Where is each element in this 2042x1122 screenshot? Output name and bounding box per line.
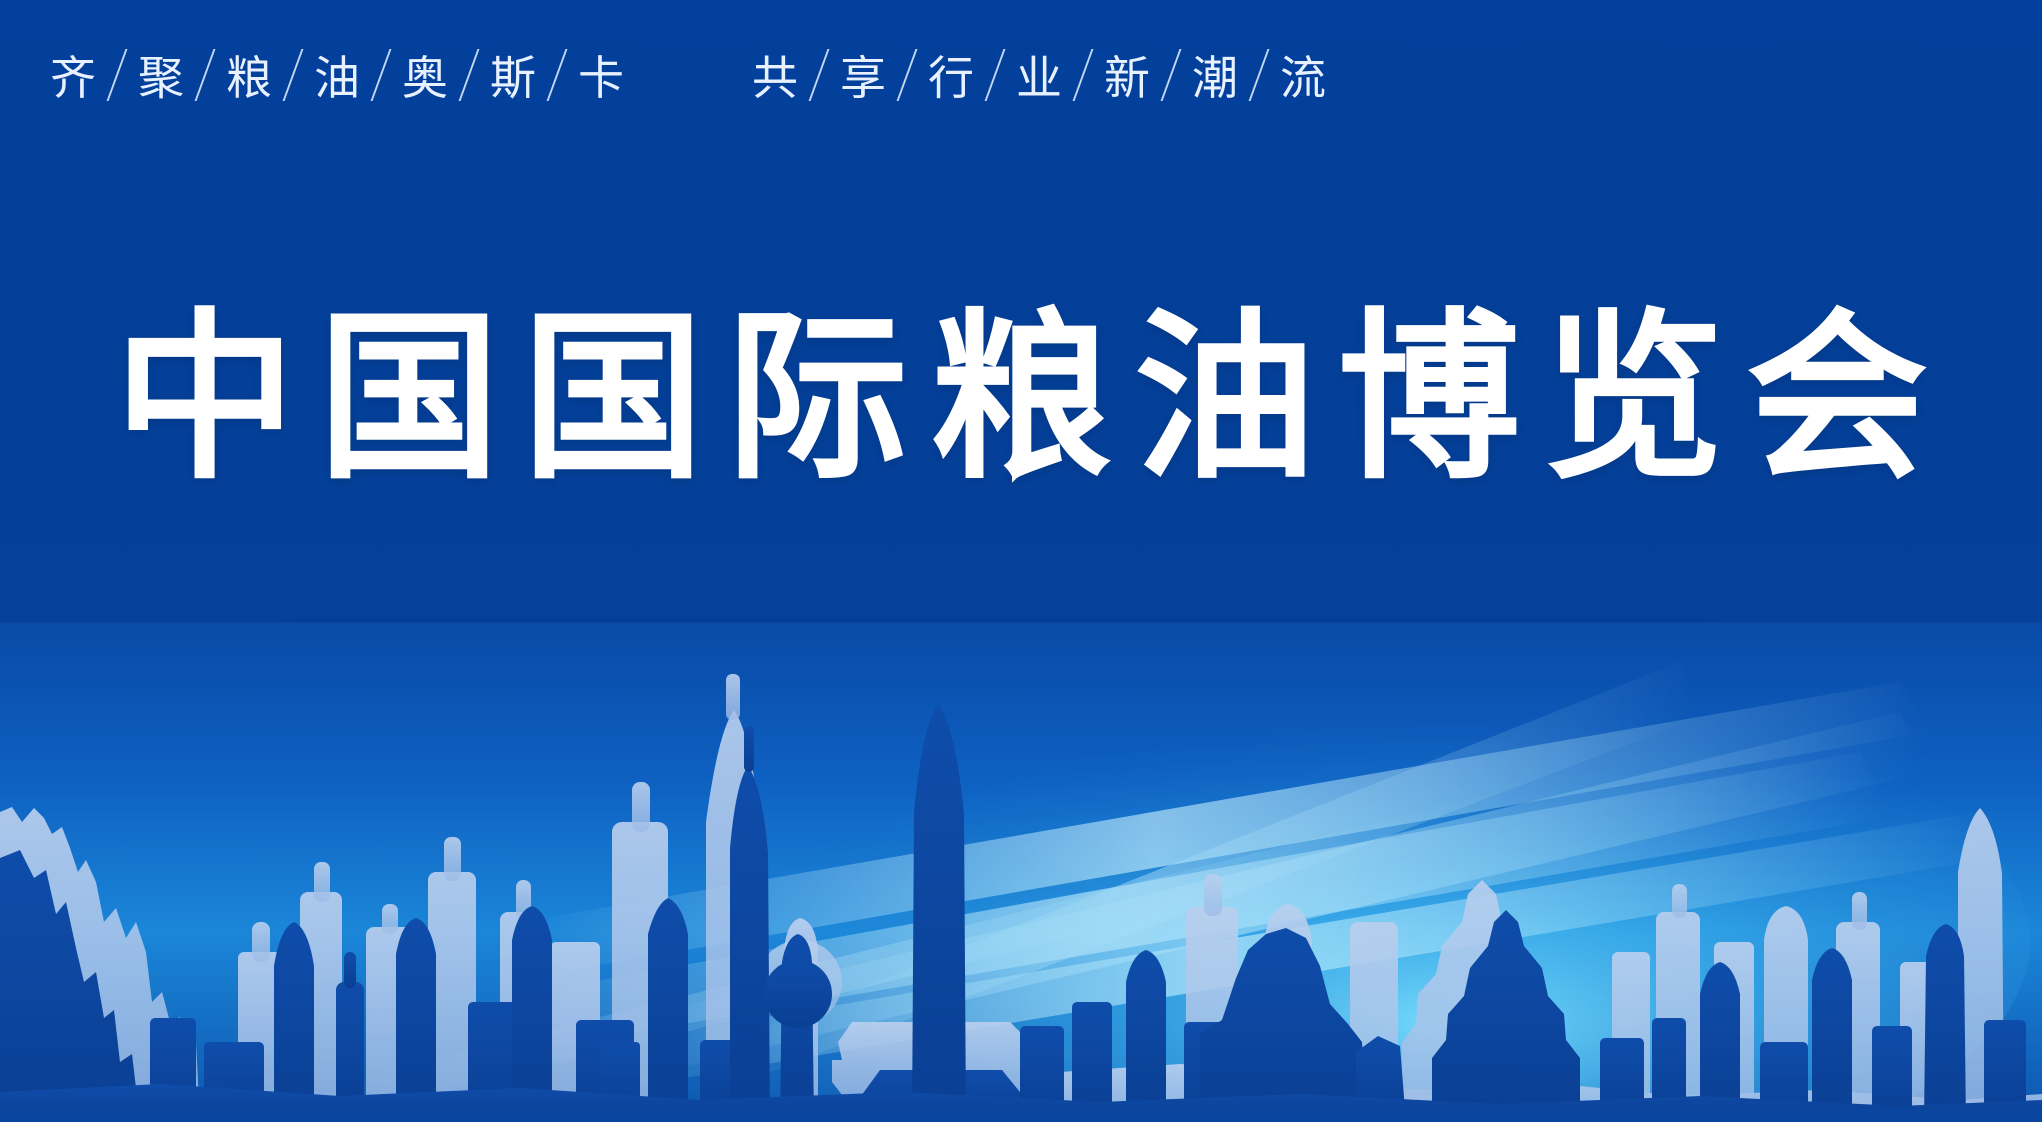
- tagline-left-char-6: 卡: [564, 42, 638, 108]
- tagline-right-char-2: 行: [914, 42, 988, 108]
- tagline-left: 齐 聚 粮 油 奥 斯 卡: [36, 42, 638, 108]
- tagline-right-char-1: 享: [826, 42, 900, 108]
- tagline-left-char-3: 油: [300, 42, 374, 108]
- tagline-row: 齐 聚 粮 油 奥 斯 卡 共 享 行 业 新 潮: [0, 36, 2042, 114]
- bottom-edge: [0, 1110, 2042, 1122]
- page-title: 中国国际粮油博览会: [92, 300, 1950, 497]
- cityscape-svg: [0, 622, 2042, 1122]
- tagline-right-char-4: 新: [1090, 42, 1164, 108]
- tagline-right-char-3: 业: [1002, 42, 1076, 108]
- tagline-right-char-6: 流: [1266, 42, 1340, 108]
- cityscape-illustration: [0, 622, 2042, 1122]
- tagline-left-char-5: 斯: [476, 42, 550, 108]
- tagline-left-char-4: 奥: [388, 42, 462, 108]
- poster-canvas: 齐 聚 粮 油 奥 斯 卡 共 享 行 业 新 潮: [0, 0, 2042, 1122]
- tagline-left-char-2: 粮: [212, 42, 286, 108]
- tagline-left-char-0: 齐: [36, 42, 110, 108]
- tagline-right-char-0: 共: [738, 42, 812, 108]
- tagline-right: 共 享 行 业 新 潮 流: [738, 42, 1340, 108]
- tagline-left-char-1: 聚: [124, 42, 198, 108]
- tagline-right-char-5: 潮: [1178, 42, 1252, 108]
- title-wrap: 中国国际粮油博览会: [0, 300, 2042, 497]
